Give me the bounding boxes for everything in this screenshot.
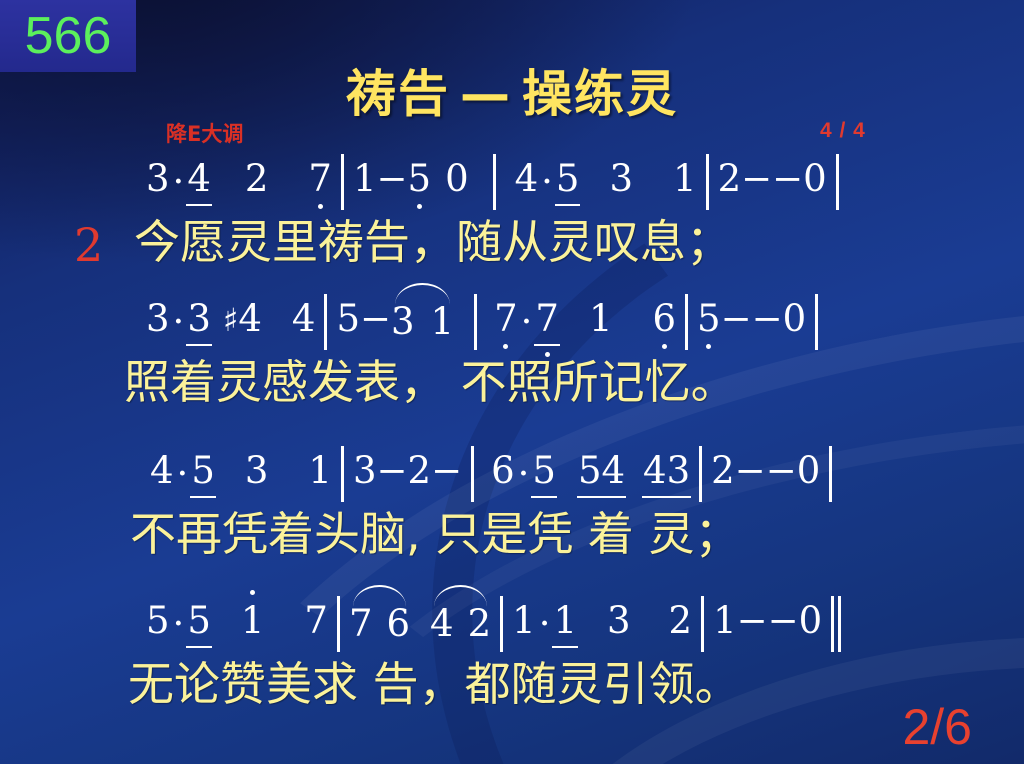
notation-line-1: 3·4 2 7 1−5 0 4·5 3 1 2−−0	[0, 160, 1024, 218]
music-system-3: 4·5 3 1 3−2− 6·5 54 43 2−−0 不再凭着头脑, 只是凭 …	[0, 452, 1024, 558]
notation-line-3: 4·5 3 1 3−2− 6·5 54 43 2−−0	[0, 452, 1024, 510]
title-subject: 祷告	[346, 65, 450, 123]
lyrics-line-1: 今愿灵里祷告，随从灵叹息；	[0, 218, 1024, 266]
lyrics-line-4: 无论赞美求 告，都随灵引领。	[0, 660, 1024, 708]
key-signature: 降E大调	[166, 118, 243, 148]
music-system-2: 3·3 ♯4 4 5−31 7·7 1 6 5−−0 照着灵感发表， 不照所记忆…	[0, 300, 1024, 406]
title-dash: —	[450, 65, 522, 123]
page-indicator: 2/6	[902, 698, 972, 756]
music-system-4: 5·5 1 7 76 42 1·1 3 2 1−−0 无论赞美求 告，都随灵引领…	[0, 602, 1024, 708]
page-title: 祷告—操练灵	[0, 54, 1024, 126]
hymn-slide: 566 祷告—操练灵 降E大调 4 / 4 2 3·4 2 7 1−5 0 4·…	[0, 0, 1024, 764]
lyrics-line-2: 照着灵感发表， 不照所记忆。	[0, 358, 1024, 406]
notation-line-4: 5·5 1 7 76 42 1·1 3 2 1−−0	[0, 602, 1024, 660]
lyrics-line-3: 不再凭着头脑, 只是凭 着 灵；	[0, 510, 1024, 558]
title-topic: 操练灵	[522, 65, 678, 123]
time-signature: 4 / 4	[820, 119, 866, 143]
music-system-1: 3·4 2 7 1−5 0 4·5 3 1 2−−0 今愿灵里祷告，随从灵叹息；	[0, 160, 1024, 266]
notation-line-2: 3·3 ♯4 4 5−31 7·7 1 6 5−−0	[0, 300, 1024, 358]
